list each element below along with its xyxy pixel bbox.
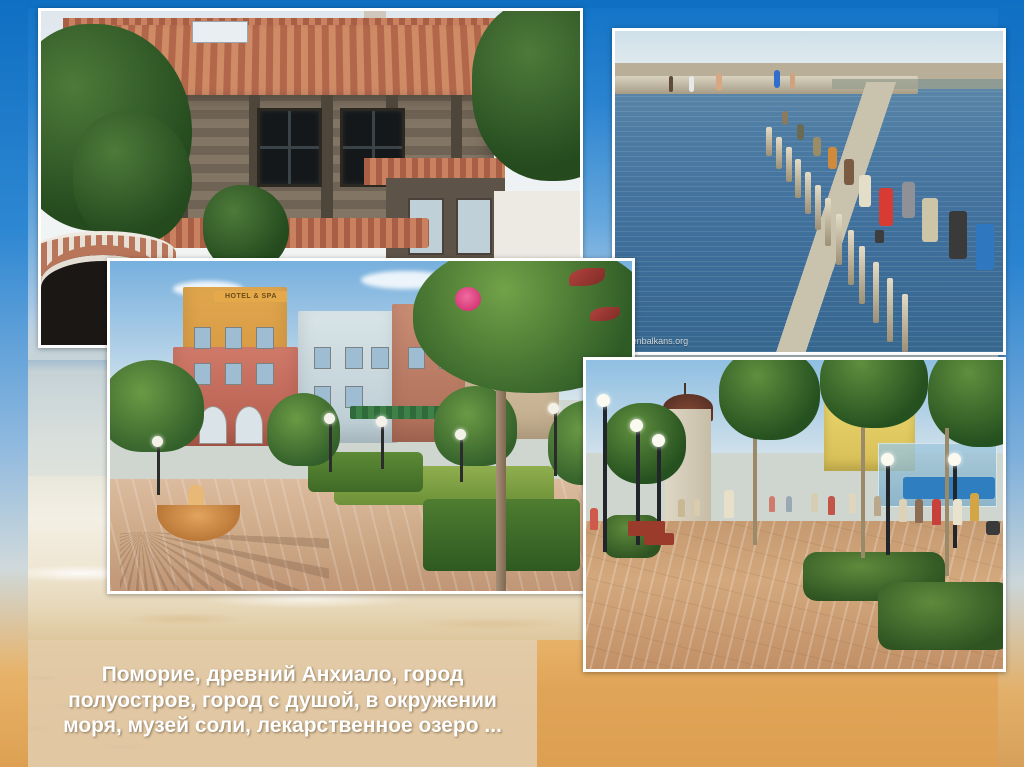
person [899,499,907,522]
person [879,188,893,226]
lamp-globe [597,394,610,407]
town-square-photo[interactable]: HOTEL & SPA [107,258,635,594]
person [790,73,795,89]
tree [603,403,686,483]
lamp-globe [324,413,335,424]
house-annex-window [456,198,492,255]
caption-text: Поморие, древний Анхиало, город полуостр… [42,662,523,739]
house-window [257,108,322,187]
person [828,147,837,169]
person [689,76,694,92]
presentation-slide: eenbalkans.org HOTEL & SPA [0,0,1024,767]
lamp-globe [152,436,163,447]
person [716,73,722,91]
person [813,137,821,156]
promenade-scene [586,360,1003,669]
palm-shadow [120,532,329,591]
person [797,124,804,140]
stroller [986,521,1000,535]
person [828,496,835,515]
caption-box: Поморие, древний Анхиало, город полуостр… [28,640,537,767]
person [669,76,673,92]
lamp-globe [652,434,665,447]
person [902,182,915,218]
lamp-globe [630,419,643,432]
causeway-scene: eenbalkans.org [615,31,1003,352]
person [811,493,818,512]
person [859,175,871,207]
tree [719,357,819,440]
salt-pan-causeway-photo[interactable]: eenbalkans.org [612,28,1006,355]
slide-border-left [0,0,28,767]
pink-flower [455,287,481,311]
blue-waterslide [903,477,995,499]
square-scene: HOTEL & SPA [110,261,632,591]
lamp-globe [881,453,894,466]
person [844,159,854,185]
person [694,499,700,516]
person [874,496,881,516]
slide-border-top [0,0,1024,8]
person [970,493,979,521]
tree-foliage [73,111,192,245]
person [724,490,734,518]
person [953,499,962,525]
person [932,499,941,525]
person [922,198,938,242]
person [590,508,598,530]
watermark: eenbalkans.org [627,336,689,346]
hotel-sign: HOTEL & SPA [214,291,287,302]
person [915,499,923,523]
person [782,111,788,125]
person [976,224,994,270]
person [678,499,685,517]
lamp-globe [948,453,961,466]
person [774,70,780,88]
person [949,211,967,259]
hedge [878,582,1006,650]
person [769,496,775,512]
house-skylight [192,21,248,43]
promenade-photo[interactable] [583,357,1006,672]
person [786,496,792,512]
person [849,493,856,513]
bag [875,230,884,243]
bench [644,533,673,545]
lamp-globe [455,429,466,440]
